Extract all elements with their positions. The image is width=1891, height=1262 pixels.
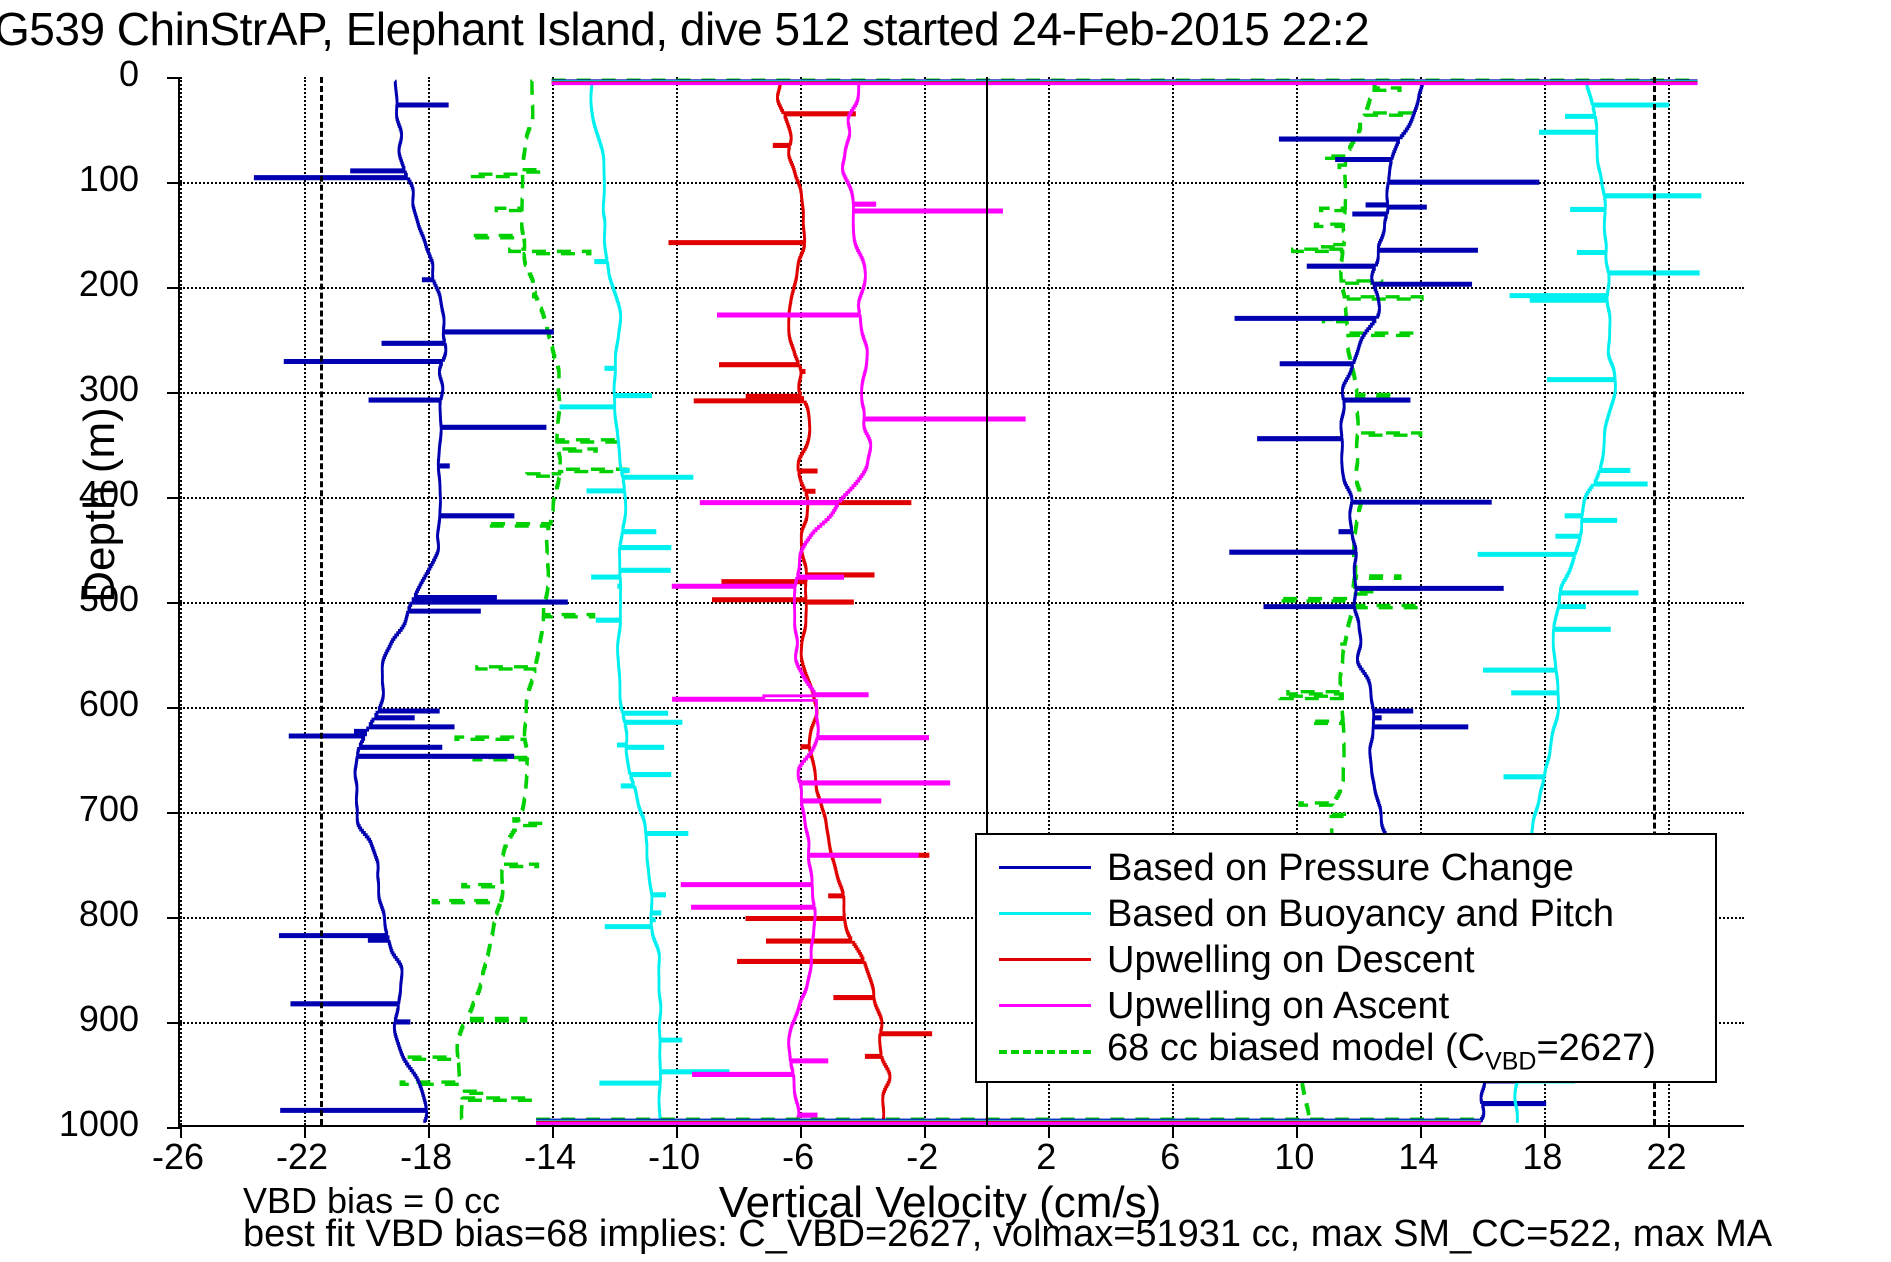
x-axis-tick-label: 14 [1358, 1136, 1478, 1178]
x-axis-tick-label: -22 [242, 1136, 362, 1178]
x-axis-tick-label: 10 [1234, 1136, 1354, 1178]
y-axis-tick-label: 600 [0, 683, 139, 725]
legend-item-label: Based on Buoyancy and Pitch [1107, 895, 1614, 933]
legend-item-label: 68 cc biased model (CVBD=2627) [1107, 1029, 1656, 1075]
x-axis-tick-label: 6 [1110, 1136, 1230, 1178]
y-axis-title: Depth (m) [75, 355, 125, 655]
y-axis-tick [167, 182, 180, 184]
legend: Based on Pressure ChangeBased on Buoyanc… [975, 833, 1717, 1083]
legend-subscript: VBD [1485, 1047, 1536, 1075]
legend-item[interactable]: Upwelling on Descent [977, 939, 1715, 980]
series-pressure-descent [255, 81, 566, 1123]
x-axis-tick-label: 2 [986, 1136, 1106, 1178]
x-axis-tick-label: -18 [366, 1136, 486, 1178]
y-axis-tick [167, 812, 180, 814]
series-upwelling-descent [670, 83, 931, 1121]
x-axis-tick-label: 22 [1606, 1136, 1726, 1178]
series-buoyancy-descent [561, 81, 728, 1123]
legend-item-label: Upwelling on Ascent [1107, 987, 1449, 1025]
x-axis-tick-label: -14 [490, 1136, 610, 1178]
x-axis-tick-label: -2 [862, 1136, 982, 1178]
y-axis-tick-label: 900 [0, 998, 139, 1040]
y-axis-tick-label: 200 [0, 263, 139, 305]
y-axis-tick [167, 917, 180, 919]
legend-item[interactable]: Based on Pressure Change [977, 847, 1715, 888]
legend-item[interactable]: Based on Buoyancy and Pitch [977, 893, 1715, 934]
y-axis-tick [167, 1022, 180, 1024]
y-axis-tick [167, 497, 180, 499]
y-axis-tick-label: 700 [0, 788, 139, 830]
x-axis-tick-label: -10 [614, 1136, 734, 1178]
y-axis-tick [167, 707, 180, 709]
y-axis-tick-label: 0 [0, 53, 139, 95]
x-axis-tick-label: -26 [118, 1136, 238, 1178]
x-axis-tick-label: 18 [1482, 1136, 1602, 1178]
legend-item-label: Based on Pressure Change [1107, 849, 1574, 887]
page-title: G539 ChinStrAP, Elephant Island, dive 51… [0, 2, 1891, 56]
best-fit-annotation: best fit VBD bias=68 implies: C_VBD=2627… [243, 1213, 1772, 1256]
y-axis-tick [167, 77, 180, 79]
legend-item[interactable]: Upwelling on Ascent [977, 985, 1715, 1026]
y-axis-tick-label: 100 [0, 158, 139, 200]
y-axis-tick [167, 602, 180, 604]
y-axis-tick [167, 1127, 180, 1129]
x-axis-tick-label: -6 [738, 1136, 858, 1178]
y-axis-tick [167, 287, 180, 289]
legend-item-label: Upwelling on Descent [1107, 941, 1475, 979]
legend-item[interactable]: 68 cc biased model (CVBD=2627) [977, 1031, 1715, 1072]
reference-line-vbd-bias [320, 77, 323, 1125]
y-axis-tick [167, 392, 180, 394]
y-axis-tick-label: 800 [0, 893, 139, 935]
